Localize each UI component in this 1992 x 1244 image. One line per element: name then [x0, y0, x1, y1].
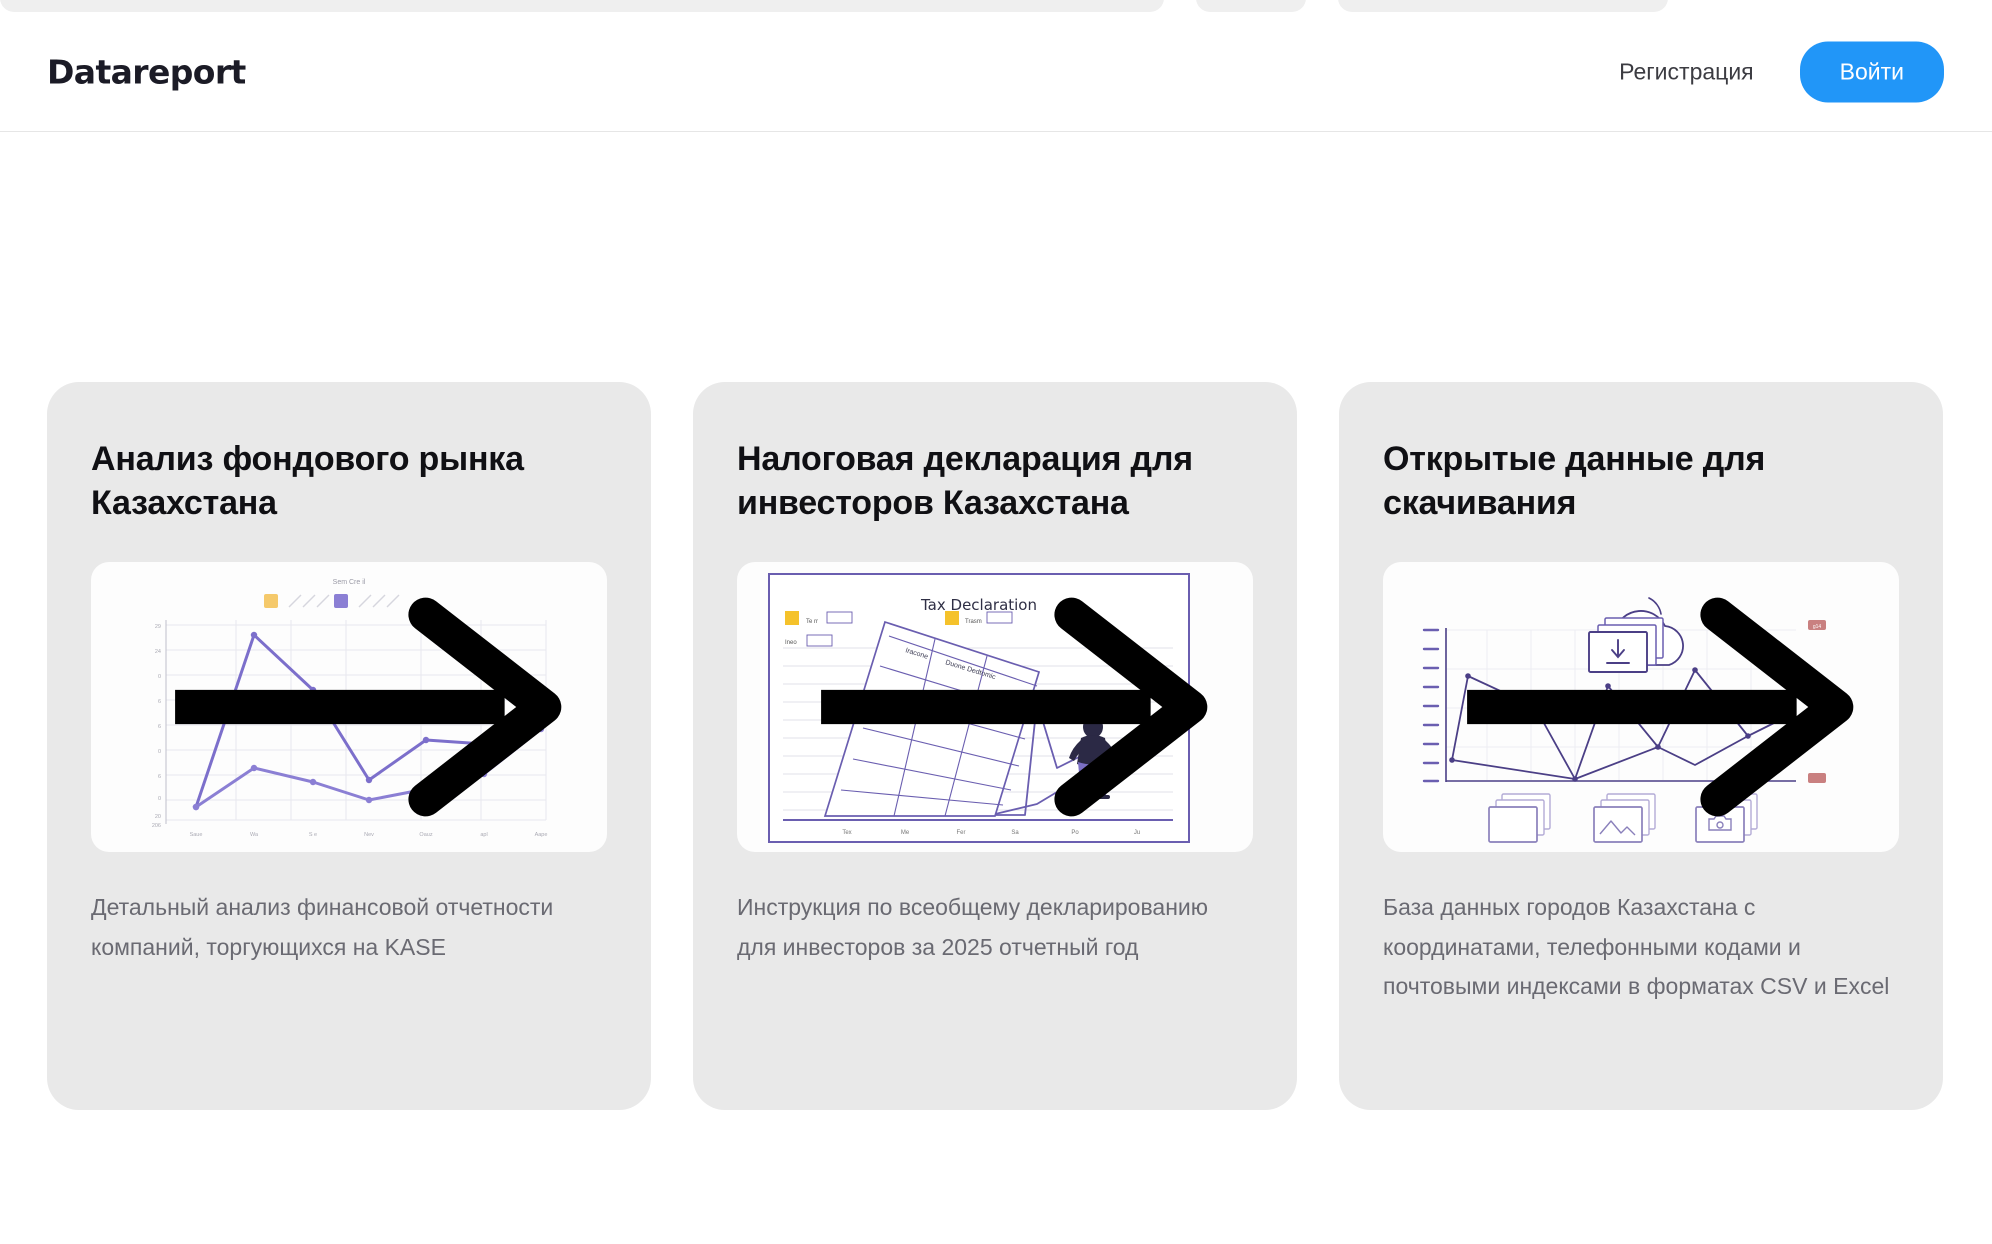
card-description: База данных городов Казахстана с координ… — [1383, 888, 1899, 1007]
site-header: Datareport Регистрация Войти — [0, 12, 1992, 132]
top-chip — [1196, 0, 1306, 12]
logo[interactable]: Datareport — [47, 52, 246, 91]
card-description: Детальный анализ финансовой отчетности к… — [91, 888, 607, 967]
top-cutoff-strip — [0, 0, 1992, 12]
illustration-line-chart: Sem Cre il — [91, 562, 607, 852]
card-stock-analysis[interactable]: Анализ фондового рынка Казахстана Sem Cr… — [47, 382, 651, 1110]
page-root: Datareport Регистрация Войти Анализ фонд… — [0, 0, 1992, 1244]
card-open-data[interactable]: Открытые данные для скачивания — [1339, 382, 1943, 1110]
card-tax-declaration[interactable]: Налоговая декларация для инвесторов Каза… — [693, 382, 1297, 1110]
arrow-right-icon[interactable] — [1420, 562, 1899, 852]
login-button[interactable]: Войти — [1800, 41, 1944, 102]
top-chip — [1338, 0, 1668, 12]
card-title: Налоговая декларация для инвесторов Каза… — [737, 438, 1253, 525]
card-title: Открытые данные для скачивания — [1383, 438, 1899, 525]
illustration-tax-declaration: Tax Declaration Te rr Trasm Ineo — [737, 562, 1253, 852]
top-chip — [0, 0, 1164, 12]
card-description: Инструкция по всеобщему декларированию д… — [737, 888, 1253, 967]
arrow-right-icon[interactable] — [128, 562, 607, 852]
arrow-right-icon[interactable] — [774, 562, 1253, 852]
header-actions: Регистрация Войти — [1619, 41, 1944, 102]
card-title: Анализ фондового рынка Казахстана — [91, 438, 607, 525]
illustration-cloud-download: g14 — [1383, 562, 1899, 852]
register-link[interactable]: Регистрация — [1619, 58, 1753, 85]
cards-row: Анализ фондового рынка Казахстана Sem Cr… — [47, 382, 1945, 1110]
